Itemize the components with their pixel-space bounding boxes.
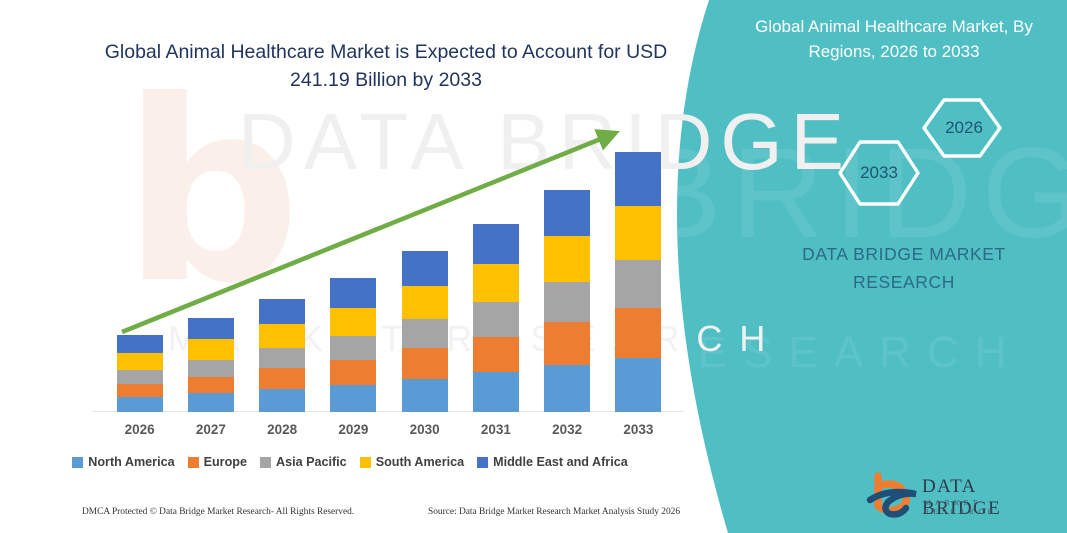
legend-label: Europe [204,455,247,469]
segment-north-america-2027[interactable] [188,393,234,412]
segment-asia-pacific-2029[interactable] [330,336,376,360]
segment-north-america-2033[interactable] [615,358,661,412]
bar-2027[interactable] [188,318,234,412]
segment-middle-east-and-africa-2026[interactable] [117,335,163,353]
bar-2033[interactable] [615,152,661,412]
segment-south-america-2028[interactable] [259,324,305,348]
segment-europe-2027[interactable] [188,377,234,394]
legend-item-middle-east-and-africa[interactable]: Middle East and Africa [477,455,628,469]
segment-europe-2028[interactable] [259,368,305,389]
legend-item-asia-pacific[interactable]: Asia Pacific [260,455,347,469]
logo-mark-icon [866,472,922,518]
segment-middle-east-and-africa-2033[interactable] [615,152,661,206]
footer: DMCA Protected © Data Bridge Market Rese… [0,503,700,525]
x-axis-label-2028: 2028 [252,422,312,437]
segment-middle-east-and-africa-2029[interactable] [330,278,376,307]
legend-label: North America [88,455,174,469]
infographic-canvas: b DATA BRIDGE MARKET RESEARCH BRIDGE RES… [0,0,1067,533]
brand-line-2: RESEARCH [764,268,1044,296]
x-axis-label-2033: 2033 [608,422,668,437]
x-axis-label-2031: 2031 [466,422,526,437]
chart-legend: North AmericaEuropeAsia PacificSouth Ame… [0,455,700,469]
x-axis-label-2027: 2027 [181,422,241,437]
legend-label: Asia Pacific [276,455,347,469]
data-bridge-logo: DATA BRIDGE MARKET RESEARCH [866,472,1046,520]
segment-north-america-2029[interactable] [330,385,376,412]
bar-2028[interactable] [259,299,305,412]
footer-copyright: DMCA Protected © Data Bridge Market Rese… [82,507,354,517]
segment-north-america-2031[interactable] [473,372,519,412]
hexagon-group: 2026 2033 [820,98,1020,218]
bar-2029[interactable] [330,278,376,412]
legend-swatch-icon [72,457,83,468]
segment-south-america-2027[interactable] [188,339,234,360]
segment-asia-pacific-2030[interactable] [402,319,448,348]
segment-middle-east-and-africa-2030[interactable] [402,251,448,285]
segment-europe-2031[interactable] [473,337,519,372]
segment-middle-east-and-africa-2031[interactable] [473,224,519,264]
legend-swatch-icon [477,457,488,468]
x-axis-label-2032: 2032 [537,422,597,437]
legend-label: South America [376,455,464,469]
right-panel-title: Global Animal Healthcare Market, By Regi… [734,14,1054,64]
segment-asia-pacific-2032[interactable] [544,282,590,323]
footer-source: Source: Data Bridge Market Research Mark… [428,507,680,517]
chart-plot-area [104,120,674,412]
bar-2032[interactable] [544,190,590,412]
logo-tagline: MARKET RESEARCH [924,498,1046,516]
hexagon-2033-label: 2033 [841,163,917,183]
stacked-bar-chart: 20262027202820292030203120322033 North A… [0,0,700,533]
segment-europe-2030[interactable] [402,348,448,378]
x-axis-label-2029: 2029 [323,422,383,437]
bar-2026[interactable] [117,335,163,412]
right-panel-brand: DATA BRIDGE MARKET RESEARCH [764,240,1044,296]
segment-asia-pacific-2028[interactable] [259,348,305,368]
segment-south-america-2032[interactable] [544,236,590,282]
legend-swatch-icon [188,457,199,468]
segment-north-america-2026[interactable] [117,397,163,412]
legend-swatch-icon [260,457,271,468]
segment-north-america-2032[interactable] [544,365,590,412]
bar-2031[interactable] [473,224,519,412]
segment-north-america-2030[interactable] [402,379,448,412]
segment-middle-east-and-africa-2028[interactable] [259,299,305,324]
legend-label: Middle East and Africa [493,455,628,469]
legend-item-north-america[interactable]: North America [72,455,174,469]
legend-item-south-america[interactable]: South America [360,455,464,469]
segment-south-america-2026[interactable] [117,353,163,371]
segment-asia-pacific-2027[interactable] [188,360,234,377]
legend-swatch-icon [360,457,371,468]
segment-middle-east-and-africa-2032[interactable] [544,190,590,236]
segment-europe-2032[interactable] [544,322,590,365]
segment-europe-2026[interactable] [117,384,163,398]
watermark-right-research-text: RESEARCH [650,328,1023,378]
segment-south-america-2029[interactable] [330,308,376,336]
x-axis-label-2030: 2030 [395,422,455,437]
hexagon-2026-label: 2026 [926,118,1002,138]
segment-north-america-2028[interactable] [259,389,305,412]
segment-europe-2029[interactable] [330,360,376,385]
segment-south-america-2031[interactable] [473,264,519,303]
x-axis-label-2026: 2026 [110,422,170,437]
chart-x-axis-labels: 20262027202820292030203120322033 [104,420,674,444]
brand-line-1: DATA BRIDGE MARKET [764,240,1044,268]
legend-item-europe[interactable]: Europe [188,455,247,469]
segment-asia-pacific-2026[interactable] [117,370,163,384]
segment-middle-east-and-africa-2027[interactable] [188,318,234,339]
segment-south-america-2033[interactable] [615,206,661,259]
bar-2030[interactable] [402,251,448,412]
segment-south-america-2030[interactable] [402,286,448,319]
segment-asia-pacific-2031[interactable] [473,302,519,336]
segment-europe-2033[interactable] [615,308,661,358]
segment-asia-pacific-2033[interactable] [615,260,661,308]
